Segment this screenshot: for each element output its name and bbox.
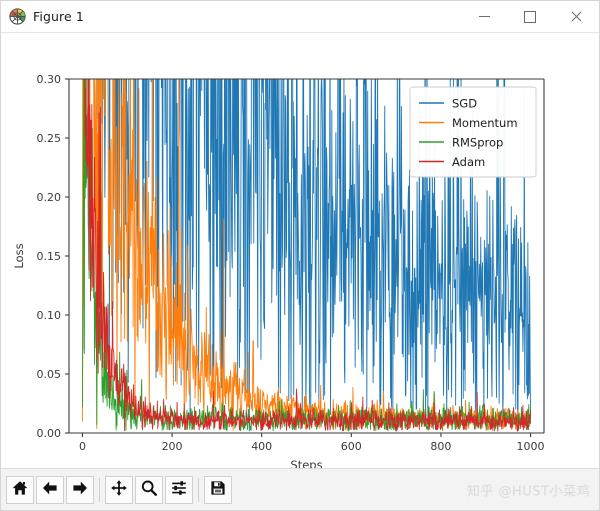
zoom-button[interactable] <box>135 476 163 504</box>
toolbar-separator-1 <box>99 478 100 502</box>
configure-subplots-button[interactable] <box>165 476 193 504</box>
window-controls <box>461 1 599 32</box>
figure-window: Figure 1 020040060080010000.000.050.100.… <box>0 0 600 511</box>
svg-text:Momentum: Momentum <box>452 116 518 130</box>
svg-text:0.10: 0.10 <box>37 309 62 322</box>
svg-text:0.25: 0.25 <box>37 132 62 145</box>
forward-button[interactable] <box>66 476 94 504</box>
floppy-disk-icon <box>209 479 227 501</box>
svg-text:0.30: 0.30 <box>37 73 62 86</box>
svg-text:Steps: Steps <box>290 458 322 468</box>
arrow-right-icon <box>71 479 89 501</box>
arrow-left-icon <box>41 479 59 501</box>
svg-text:0.00: 0.00 <box>37 427 62 440</box>
close-button[interactable] <box>553 1 599 32</box>
svg-text:0.15: 0.15 <box>37 250 62 263</box>
figure-canvas[interactable]: 020040060080010000.000.050.100.150.200.2… <box>1 33 599 468</box>
sliders-icon <box>170 479 188 501</box>
save-button[interactable] <box>204 476 232 504</box>
svg-text:0.20: 0.20 <box>37 191 62 204</box>
pan-button[interactable] <box>105 476 133 504</box>
toolbar-separator-2 <box>198 478 199 502</box>
minimize-button[interactable] <box>461 1 507 32</box>
svg-text:SGD: SGD <box>452 97 477 111</box>
svg-text:0: 0 <box>79 440 86 453</box>
home-button[interactable] <box>6 476 34 504</box>
title-bar: Figure 1 <box>1 1 599 33</box>
matplotlib-logo-icon <box>9 8 26 25</box>
loss-curves-chart: 020040060080010000.000.050.100.150.200.2… <box>1 33 599 468</box>
svg-text:Loss: Loss <box>12 243 26 268</box>
svg-text:200: 200 <box>162 440 183 453</box>
navigation-toolbar: 知乎 @HUST小菜鸡 <box>1 468 599 510</box>
window-title: Figure 1 <box>33 9 84 24</box>
svg-text:1000: 1000 <box>517 440 545 453</box>
home-icon <box>11 479 29 501</box>
svg-text:800: 800 <box>430 440 451 453</box>
magnifier-icon <box>140 479 158 501</box>
back-button[interactable] <box>36 476 64 504</box>
svg-text:RMSprop: RMSprop <box>452 136 503 150</box>
maximize-button[interactable] <box>507 1 553 32</box>
watermark-text: 知乎 @HUST小菜鸡 <box>467 480 590 499</box>
svg-text:0.05: 0.05 <box>37 368 62 381</box>
move-icon <box>110 479 128 501</box>
svg-text:400: 400 <box>251 440 272 453</box>
svg-text:Adam: Adam <box>452 155 485 169</box>
svg-text:600: 600 <box>341 440 362 453</box>
